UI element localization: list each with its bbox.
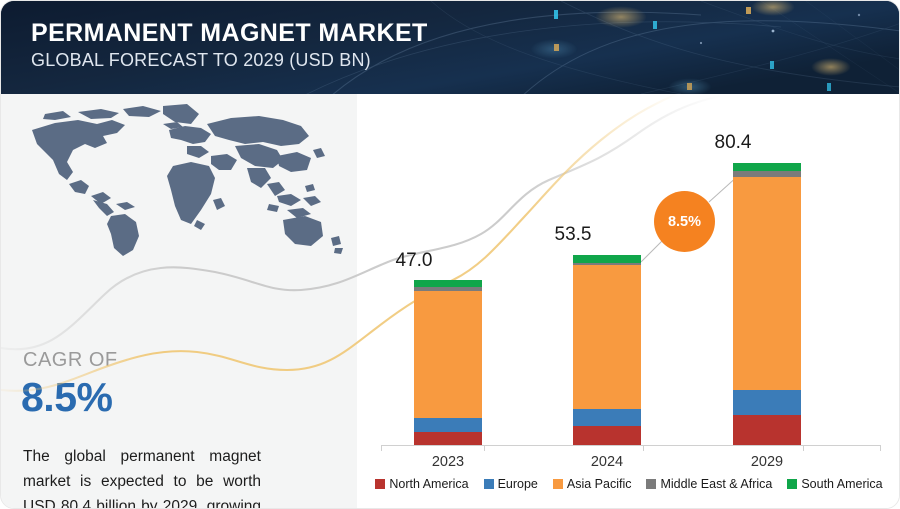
bar-2029[interactable] — [733, 163, 801, 445]
segment-europe — [573, 409, 641, 426]
bar-2023[interactable] — [414, 280, 482, 445]
axis-tick — [381, 445, 382, 451]
bar-total-label: 80.4 — [683, 132, 783, 154]
legend-swatch-icon — [375, 479, 385, 489]
legend-label: Europe — [498, 477, 538, 491]
legend-swatch-icon — [646, 479, 656, 489]
page-subtitle: GLOBAL FORECAST TO 2029 (USD BN) — [31, 50, 428, 70]
legend-label: Middle East & Africa — [660, 477, 772, 491]
legend-label: Asia Pacific — [567, 477, 632, 491]
legend-swatch-icon — [787, 479, 797, 489]
segment-asia-pacific — [573, 265, 641, 409]
bar-total-label: 53.5 — [523, 224, 623, 246]
segment-north-america — [733, 415, 801, 445]
segment-north-america — [573, 426, 641, 445]
x-axis-label-2024: 2024 — [557, 454, 657, 470]
bar-total-label: 47.0 — [364, 250, 464, 272]
legend-label: South America — [801, 477, 882, 491]
legend-swatch-icon — [484, 479, 494, 489]
legend-item-asia-pacific[interactable]: Asia Pacific — [553, 477, 632, 491]
header-banner: PERMANENT MAGNET MARKET GLOBAL FORECAST … — [1, 1, 900, 94]
bar-2024[interactable] — [573, 255, 641, 445]
axis-tick — [484, 445, 485, 451]
chart-panel: 47.0 2023 53.5 2024 80.4 — [357, 94, 900, 509]
stacked-bar-chart: 47.0 2023 53.5 2024 80.4 — [357, 94, 900, 509]
segment-asia-pacific — [733, 177, 801, 390]
header-text-block: PERMANENT MAGNET MARKET GLOBAL FORECAST … — [31, 19, 428, 70]
legend-item-south-america[interactable]: South America — [787, 477, 882, 491]
cagr-bubble-label: 8.5% — [668, 214, 701, 230]
legend-label: North America — [389, 477, 468, 491]
segment-south-america — [414, 280, 482, 287]
segment-south-america — [733, 163, 801, 171]
segment-asia-pacific — [414, 291, 482, 418]
axis-tick — [803, 445, 804, 451]
legend-item-middle-east-africa[interactable]: Middle East & Africa — [646, 477, 772, 491]
segment-europe — [414, 418, 482, 432]
legend-item-europe[interactable]: Europe — [484, 477, 538, 491]
x-axis-line — [381, 445, 880, 446]
segment-europe — [733, 390, 801, 415]
axis-tick — [880, 445, 881, 451]
x-axis-label-2029: 2029 — [717, 454, 817, 470]
infographic-card: PERMANENT MAGNET MARKET GLOBAL FORECAST … — [0, 0, 900, 509]
page-title: PERMANENT MAGNET MARKET — [31, 19, 428, 47]
axis-tick — [643, 445, 644, 451]
x-axis-label-2023: 2023 — [398, 454, 498, 470]
segment-south-america — [573, 255, 641, 263]
legend-swatch-icon — [553, 479, 563, 489]
chart-legend: North America Europe Asia Pacific Middle… — [357, 477, 900, 491]
segment-north-america — [414, 432, 482, 445]
cagr-bubble: 8.5% — [654, 191, 715, 252]
legend-item-north-america[interactable]: North America — [375, 477, 468, 491]
